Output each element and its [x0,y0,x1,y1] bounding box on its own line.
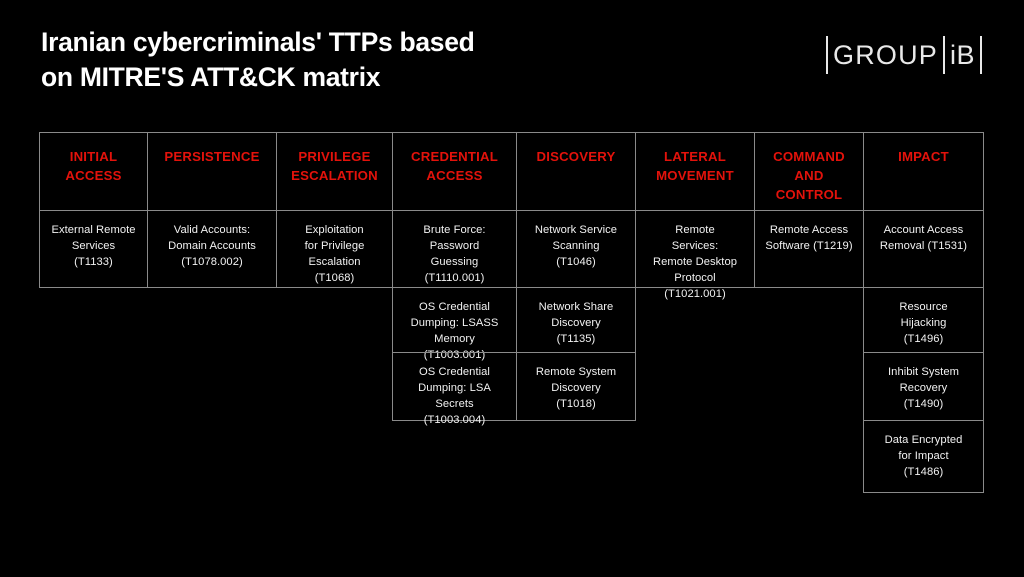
matrix-technique-cell[interactable]: OS Credential Dumping: LSASS Memory (T10… [392,287,517,353]
matrix-technique-label: Data Encrypted for Impact (T1486) [872,433,975,481]
matrix-technique-cell[interactable]: Exploitation for Privilege Escalation (T… [276,210,393,288]
matrix-column-header: CREDENTIAL ACCESS [392,132,517,211]
matrix-column: LATERAL MOVEMENTRemote Services: Remote … [636,133,755,288]
matrix-column-header-label: COMMAND AND CONTROL [763,147,855,204]
matrix-technique-cell[interactable]: Network Service Scanning (T1046) [516,210,636,288]
matrix-technique-cell[interactable]: Resource Hijacking (T1496) [863,287,984,353]
matrix-technique-label: Exploitation for Privilege Escalation (T… [285,223,384,287]
matrix-column-header: DISCOVERY [516,132,636,211]
matrix-technique-label: Remote Services: Remote Desktop Protocol… [644,223,746,303]
matrix-technique-label: External Remote Services (T1133) [48,223,139,271]
matrix-column: PERSISTENCEValid Accounts: Domain Accoun… [148,133,277,288]
matrix-technique-cell[interactable]: External Remote Services (T1133) [39,210,148,288]
matrix-column-header-label: DISCOVERY [525,147,627,166]
logo-bar-right [980,36,982,74]
group-ib-logo: GROUP iB [826,36,982,74]
matrix-column-header-label: IMPACT [872,147,975,166]
matrix-column-header: INITIAL ACCESS [39,132,148,211]
matrix-column-header: IMPACT [863,132,984,211]
page-title: Iranian cybercriminals' TTPs based on MI… [41,25,661,95]
matrix-column-header: LATERAL MOVEMENT [635,132,755,211]
matrix-technique-label: Resource Hijacking (T1496) [872,300,975,348]
matrix-technique-cell[interactable]: Network Share Discovery (T1135) [516,287,636,353]
matrix-technique-label: Account Access Removal (T1531) [872,223,975,255]
matrix-technique-cell[interactable]: Data Encrypted for Impact (T1486) [863,420,984,493]
matrix-technique-label: Brute Force: Password Guessing (T1110.00… [401,223,508,287]
matrix-column-header-label: PERSISTENCE [156,147,268,166]
matrix-technique-label: Network Service Scanning (T1046) [525,223,627,271]
matrix-column-header: COMMAND AND CONTROL [754,132,864,211]
matrix-column-header: PERSISTENCE [147,132,277,211]
matrix-column-header-label: PRIVILEGE ESCALATION [285,147,384,185]
matrix-column-header: PRIVILEGE ESCALATION [276,132,393,211]
matrix-technique-label: Remote Access Software (T1219) [763,223,855,255]
matrix-column: CREDENTIAL ACCESSBrute Force: Password G… [393,133,517,421]
page-header: Iranian cybercriminals' TTPs based on MI… [0,0,1024,120]
matrix-column: COMMAND AND CONTROLRemote Access Softwar… [755,133,864,288]
matrix-column-header-label: INITIAL ACCESS [48,147,139,185]
matrix-column: IMPACTAccount Access Removal (T1531)Reso… [864,133,984,493]
matrix-column: INITIAL ACCESSExternal Remote Services (… [40,133,148,288]
matrix-technique-cell[interactable]: Account Access Removal (T1531) [863,210,984,288]
matrix-technique-cell[interactable]: Remote Access Software (T1219) [754,210,864,288]
logo-brand-text: GROUP [828,42,943,69]
matrix-technique-cell[interactable]: Valid Accounts: Domain Accounts (T1078.0… [147,210,277,288]
matrix-technique-label: Valid Accounts: Domain Accounts (T1078.0… [156,223,268,271]
matrix-technique-label: OS Credential Dumping: LSA Secrets (T100… [401,365,508,429]
matrix-technique-cell[interactable]: OS Credential Dumping: LSA Secrets (T100… [392,352,517,421]
matrix-column: DISCOVERYNetwork Service Scanning (T1046… [517,133,636,421]
logo-suffix-text: iB [945,42,980,69]
matrix-technique-cell[interactable]: Brute Force: Password Guessing (T1110.00… [392,210,517,288]
matrix-column-header-label: CREDENTIAL ACCESS [401,147,508,185]
matrix-technique-cell[interactable]: Remote System Discovery (T1018) [516,352,636,421]
matrix-column: PRIVILEGE ESCALATIONExploitation for Pri… [277,133,393,288]
matrix-column-header-label: LATERAL MOVEMENT [644,147,746,185]
matrix-technique-label: Remote System Discovery (T1018) [525,365,627,413]
matrix-technique-label: Network Share Discovery (T1135) [525,300,627,348]
matrix-technique-cell[interactable]: Remote Services: Remote Desktop Protocol… [635,210,755,288]
matrix-technique-label: Inhibit System Recovery (T1490) [872,365,975,413]
attack-matrix: INITIAL ACCESSExternal Remote Services (… [40,133,984,493]
matrix-technique-cell[interactable]: Inhibit System Recovery (T1490) [863,352,984,421]
